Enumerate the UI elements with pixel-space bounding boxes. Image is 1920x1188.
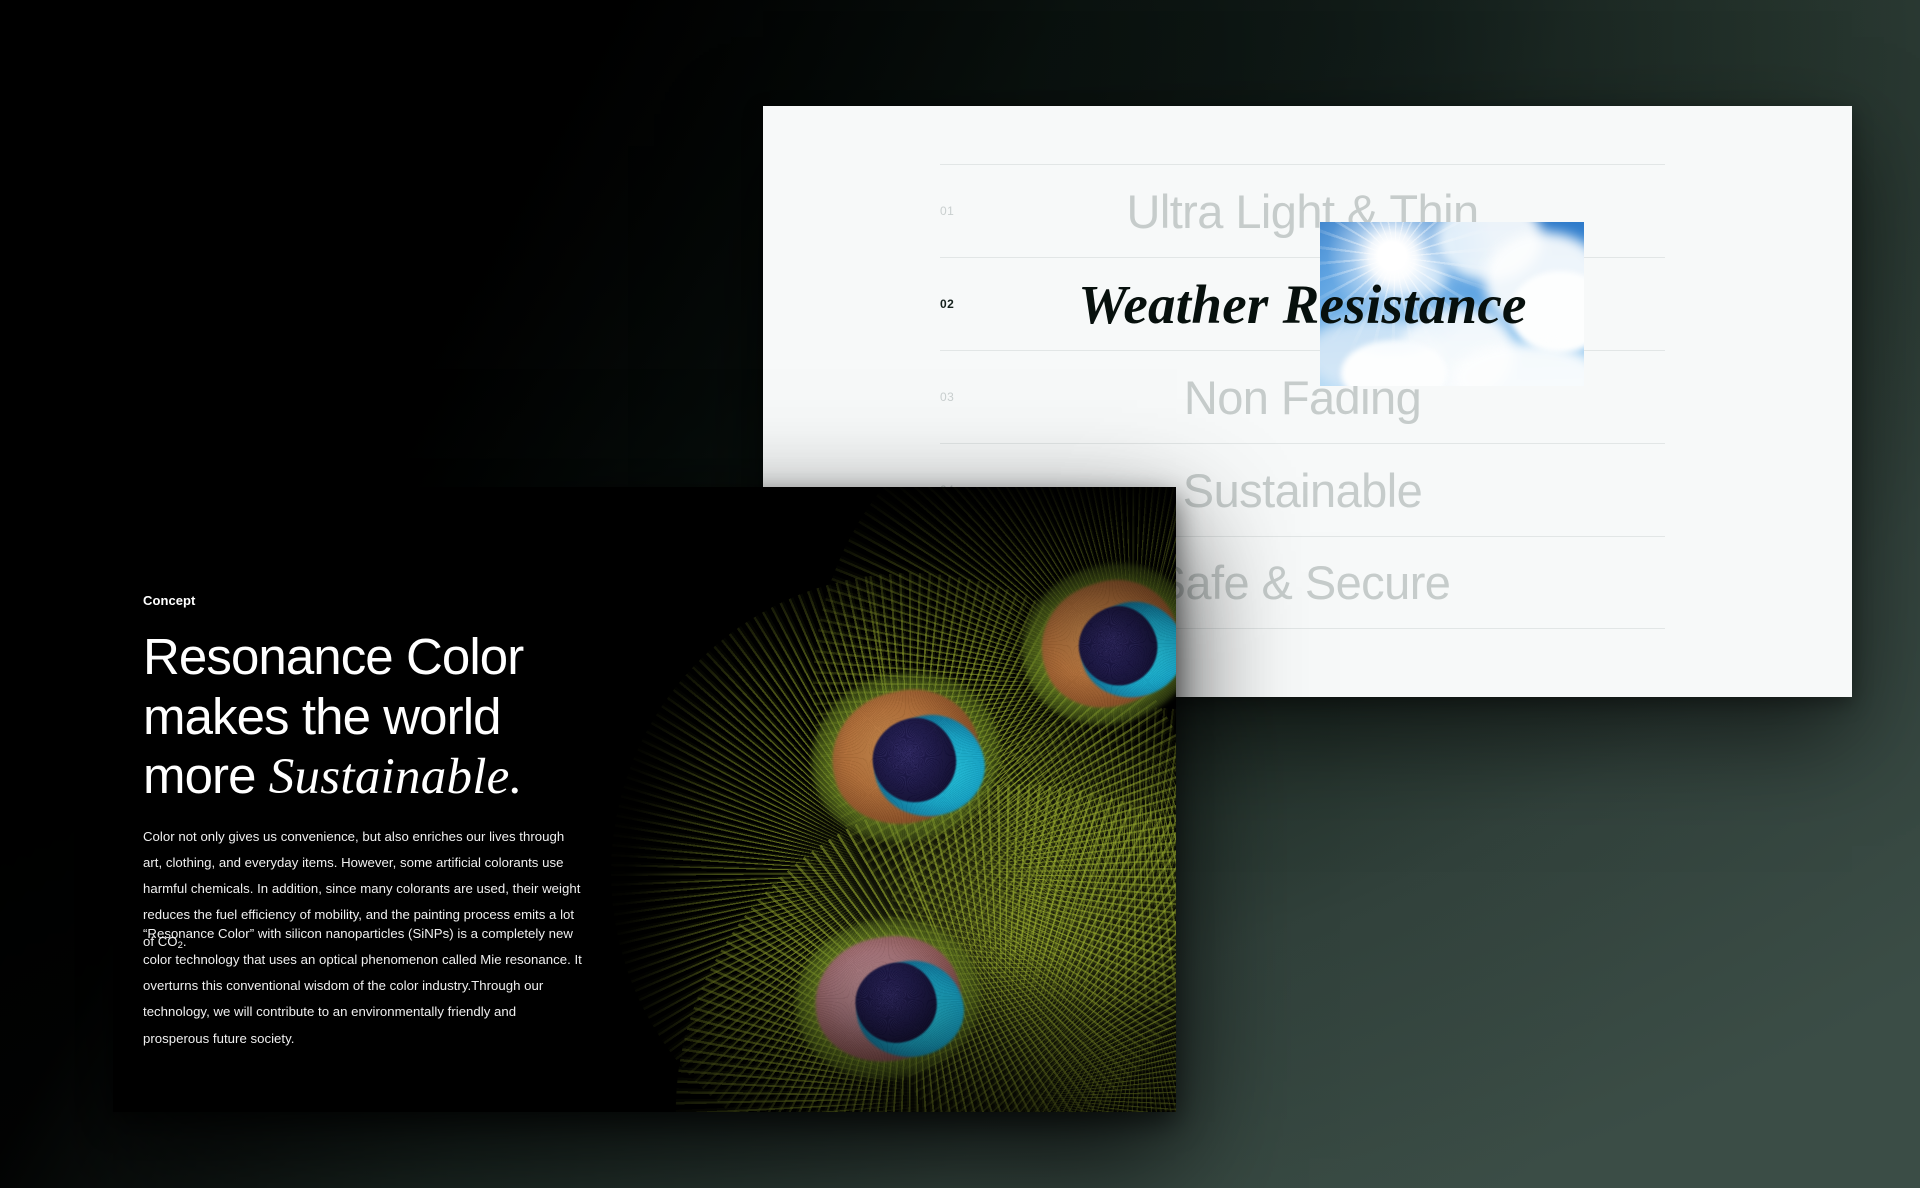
feature-number: 01 xyxy=(940,204,954,218)
feature-label: Weather Resistance xyxy=(940,277,1665,332)
feather-eye-barb-streaks xyxy=(785,907,991,1091)
headline-line-3-italic: Sustainable. xyxy=(269,749,523,805)
feather-eye xyxy=(785,907,991,1091)
headline-line-2: makes the world xyxy=(143,688,501,745)
body-paragraph-2: “Resonance Color” with silicon nanoparti… xyxy=(143,921,585,1052)
feature-number: 03 xyxy=(940,390,954,404)
eyebrow-label: Concept xyxy=(143,593,195,608)
page-title: Resonance Color makes the world more Sus… xyxy=(143,627,683,808)
concept-slide: Concept Resonance Color makes the world … xyxy=(113,487,1176,1112)
headline-line-1: Resonance Color xyxy=(143,628,523,685)
headline-line-3-plain: more xyxy=(143,747,269,804)
